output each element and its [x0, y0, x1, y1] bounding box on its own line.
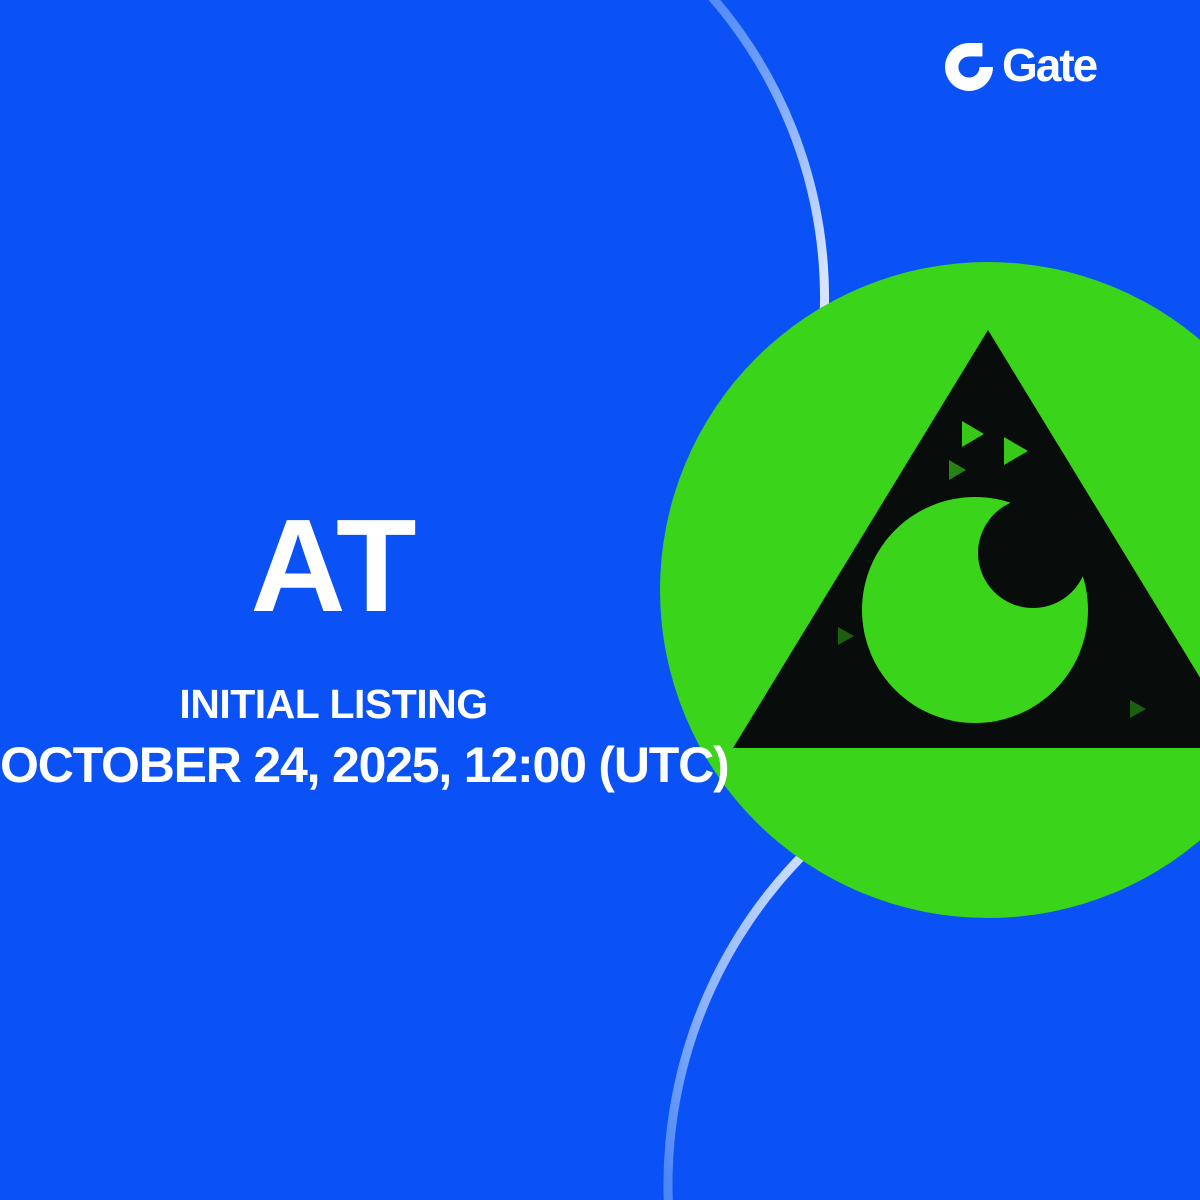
gate-brand-lockup: Gate — [945, 42, 1152, 92]
gate-wordmark-text: Gate — [1002, 42, 1098, 91]
token-eye — [830, 470, 1130, 760]
announcement-text-block: AT INITIAL LISTING OCTOBER 24, 2025, 12:… — [0, 500, 667, 792]
event-datetime: OCTOBER 24, 2025, 12:00 (UTC) — [0, 739, 667, 792]
token-symbol: AT — [0, 500, 667, 632]
event-label: INITIAL LISTING — [0, 684, 667, 725]
listing-announcement-poster: Gate AT INITIAL LISTING OCTOBER 24, 2025… — [0, 0, 1200, 1200]
gate-wordmark: Gate — [1002, 42, 1152, 92]
gate-logo-icon — [945, 43, 993, 91]
